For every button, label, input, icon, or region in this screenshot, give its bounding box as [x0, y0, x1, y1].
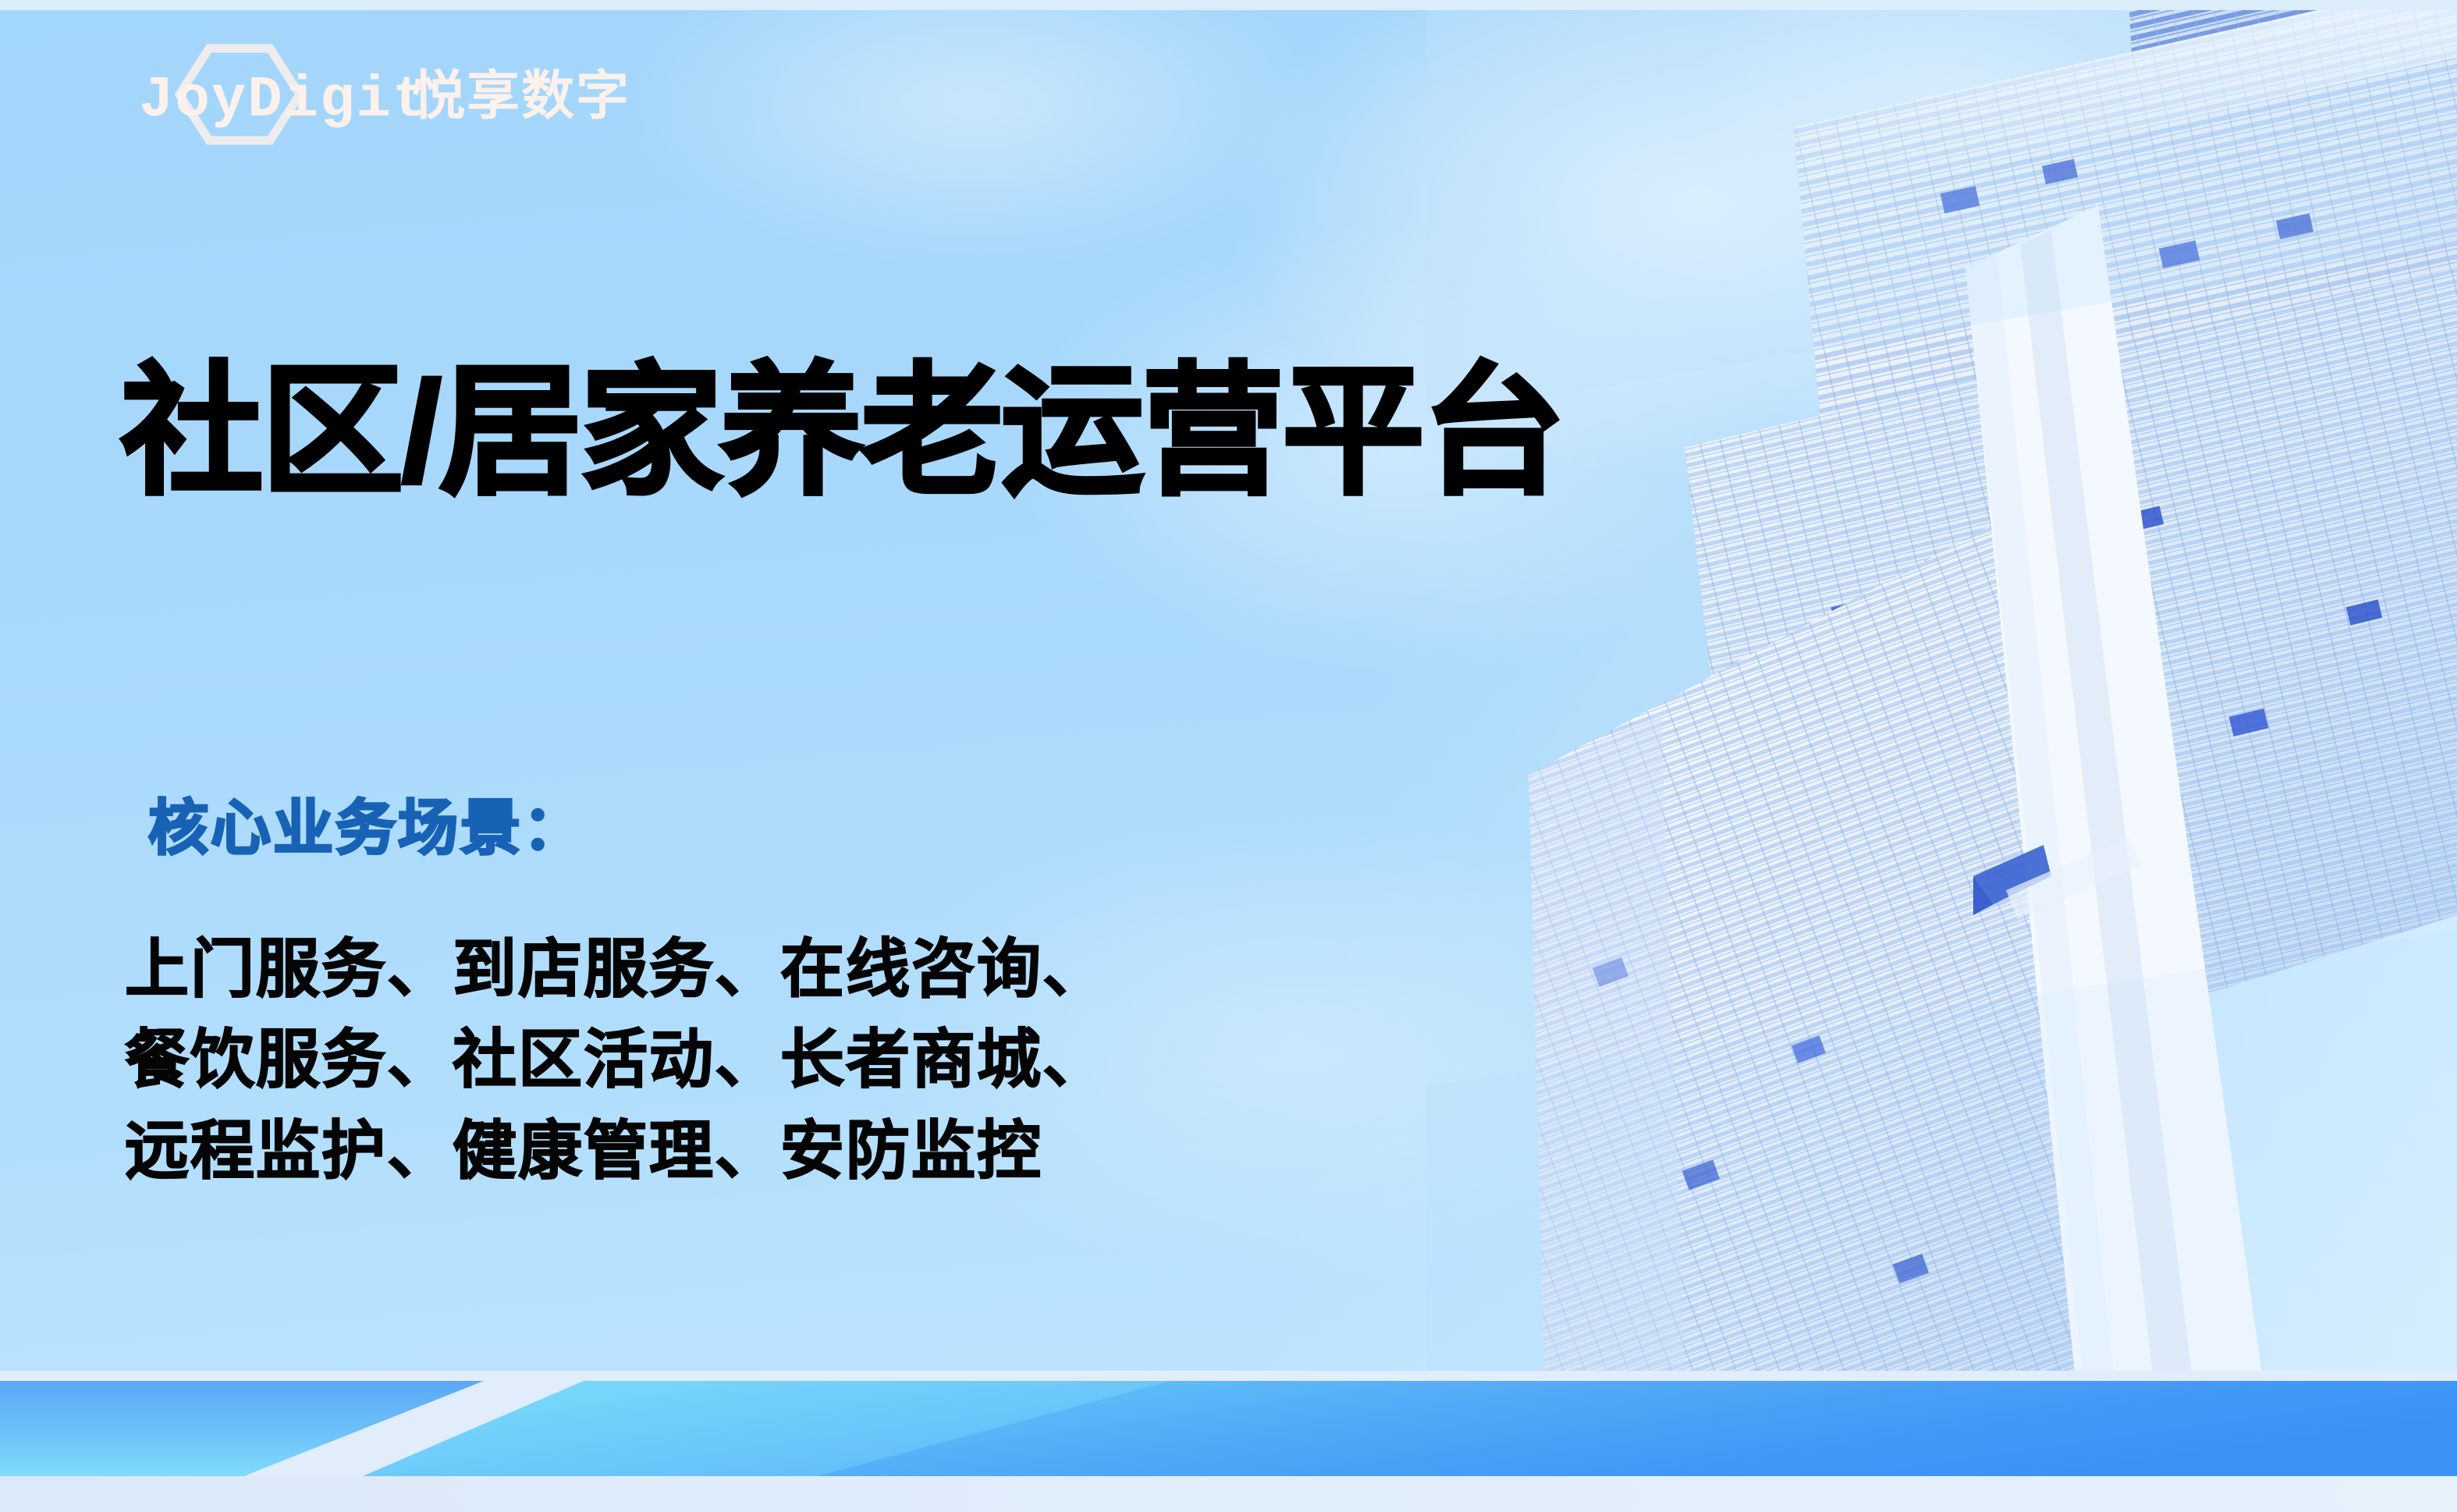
skyscraper-photo	[1427, 10, 2457, 1374]
logo-wordmark-chinese: 悦享数字	[412, 66, 630, 126]
scene-line: 上门服务、到店服务、在线咨询、	[125, 925, 1108, 1015]
svg-text:JoyDigit: JoyDigit	[139, 68, 428, 133]
logo-wordmark-latin: JoyDigit	[139, 68, 428, 133]
core-scenario-list: 上门服务、到店服务、在线咨询、 餐饮服务、社区活动、长者商城、 远程监护、健康管…	[125, 925, 1108, 1197]
top-edge-strip	[0, 0, 2457, 10]
svg-text:悦享数字: 悦享数字	[412, 66, 630, 126]
scene-line: 远程监护、健康管理、安防监控	[125, 1106, 1108, 1197]
slide-root: JoyDigit 悦享数字 社区/居家养老运营平台 核心业务场景： 上门服务、到…	[0, 0, 2457, 1512]
scene-line: 餐饮服务、社区活动、长者商城、	[125, 1015, 1108, 1106]
section-heading-core-scenarios: 核心业务场景：	[148, 780, 585, 867]
brand-logo: JoyDigit 悦享数字	[117, 36, 663, 153]
footer-strip	[0, 1476, 2457, 1512]
page-title: 社区/居家养老运营平台	[121, 353, 1564, 512]
